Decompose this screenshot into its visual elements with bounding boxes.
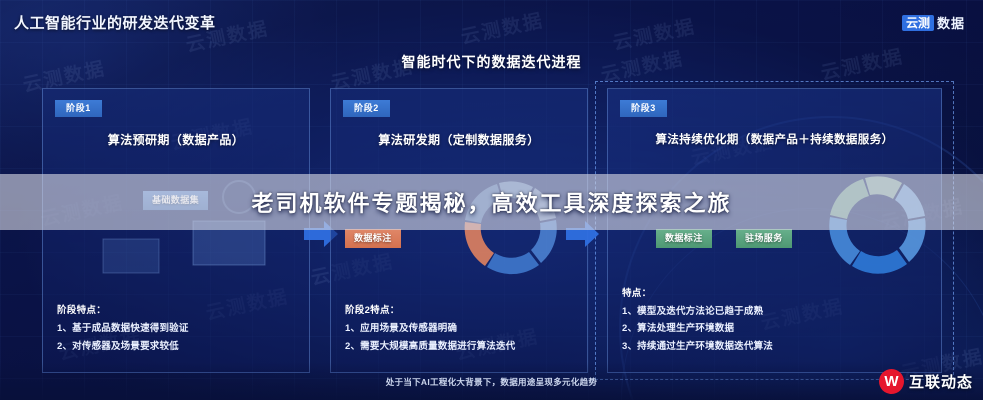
weibo-account[interactable]: W 互联动态: [879, 369, 973, 394]
phase-title-2: 算法研发期（定制数据服务）: [331, 131, 587, 148]
phase-badge-3: 阶段3: [620, 100, 667, 117]
tag-data-annotation-p3[interactable]: 数据标注: [656, 229, 712, 248]
overlay-banner: 老司机软件专题揭秘，高效工具深度探索之旅: [0, 174, 983, 230]
phase-panel-1[interactable]: 阶段1 算法预研期（数据产品） 基础数据集 阶段特点： 1、基于成品数据快速得到…: [42, 88, 310, 373]
weibo-account-name: 互联动态: [909, 371, 973, 392]
phase2-feature-item: 2、需要大规模高质量数据进行算法迭代: [345, 341, 577, 352]
phase-panels: 阶段1 算法预研期（数据产品） 基础数据集 阶段特点： 1、基于成品数据快速得到…: [42, 88, 942, 373]
phase-badge-1: 阶段1: [55, 100, 102, 117]
footer-note: 处于当下AI工程化大背景下，数据用途呈现多元化趋势: [0, 376, 983, 388]
phase1-feature-item: 2、对传感器及场景要求较低: [57, 341, 299, 352]
tag-data-annotation-p2[interactable]: 数据标注: [345, 229, 401, 248]
infographic-canvas: 云测数据 云测数据 云测数据 云测数据 云测数据 云测数据 云测数据 云测数据 …: [0, 0, 983, 400]
phase3-feature-item: 2、算法处理生产环境数据: [622, 323, 931, 334]
phase3-feature-item: 3、持续通过生产环境数据迭代算法: [622, 341, 931, 352]
phase-title-3: 算法持续优化期（数据产品＋持续数据服务）: [608, 131, 941, 147]
phase1-feature-item: 1、基于成品数据快速得到验证: [57, 323, 299, 334]
phase-panel-3[interactable]: 阶段3 算法持续优化期（数据产品＋持续数据服务） 数据标注 驻场服务: [607, 88, 942, 373]
phase-panel-2[interactable]: 阶段2 算法研发期（定制数据服务） 数据标注: [330, 88, 588, 373]
phase2-features-head: 阶段2特点：: [345, 302, 577, 316]
phase1-features-head: 阶段特点：: [57, 302, 299, 316]
phase-title-1: 算法预研期（数据产品）: [43, 131, 309, 148]
watermark: 云测数据: [610, 12, 698, 56]
watermark: 云测数据: [458, 6, 546, 50]
phase3-feature-item: 1、模型及迭代方法论已趋于成熟: [622, 306, 931, 317]
phase-badge-2: 阶段2: [343, 100, 390, 117]
brand-word: 数据: [937, 13, 965, 32]
tag-onsite-service[interactable]: 驻场服务: [736, 229, 792, 248]
phase2-features: 阶段2特点： 1、应用场景及传感器明确 2、需要大规模高质量数据进行算法迭代: [345, 302, 577, 358]
overlay-banner-text: 老司机软件专题揭秘，高效工具深度探索之旅: [251, 186, 731, 218]
phase3-features: 特点： 1、模型及迭代方法论已趋于成熟 2、算法处理生产环境数据 3、持续通过生…: [622, 285, 931, 358]
brand-logo: 云测 数据: [896, 10, 971, 35]
main-heading: 智能时代下的数据迭代进程: [0, 52, 983, 72]
weibo-icon: W: [879, 369, 904, 394]
phase2-feature-item: 1、应用场景及传感器明确: [345, 323, 577, 334]
phase3-features-head: 特点：: [622, 285, 931, 299]
brand-mark: 云测: [902, 15, 934, 31]
phase1-features: 阶段特点： 1、基于成品数据快速得到验证 2、对传感器及场景要求较低: [57, 302, 299, 358]
page-title: 人工智能行业的研发迭代变革: [14, 12, 216, 33]
